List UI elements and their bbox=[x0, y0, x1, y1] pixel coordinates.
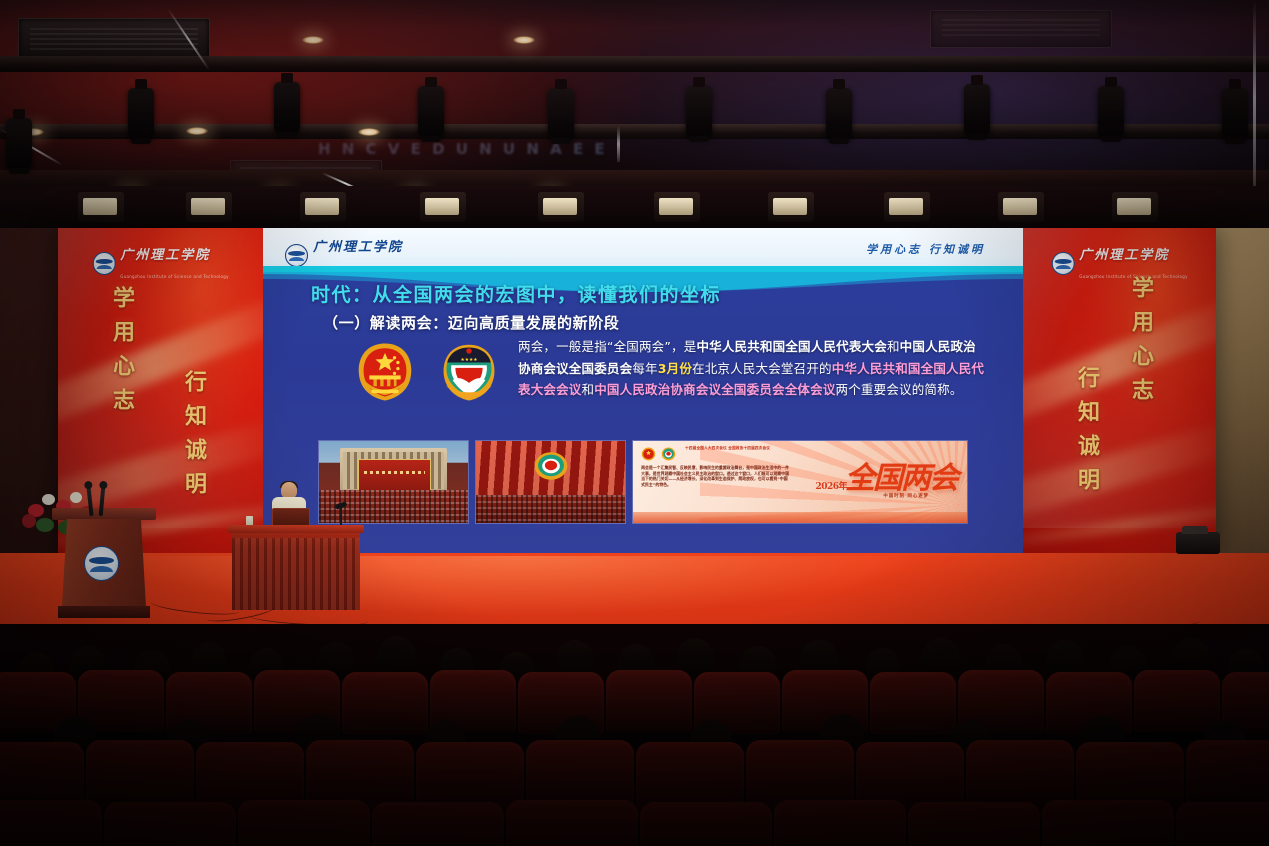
body-run: 每年 bbox=[632, 361, 657, 376]
auditorium-seat bbox=[640, 802, 772, 846]
ceiling-light-strip bbox=[1253, 0, 1256, 196]
national-emblem-of-china-icon bbox=[351, 338, 419, 406]
stage-spotlight-icon bbox=[128, 88, 154, 140]
school-logo: 广州理工学院 Guangzhou Institute of Science an… bbox=[92, 244, 229, 282]
stage-spotlight-icon bbox=[548, 88, 574, 140]
stage-light-fixture-icon bbox=[420, 192, 466, 222]
recessed-downlight-icon bbox=[186, 127, 208, 135]
school-emblem-icon bbox=[92, 252, 115, 275]
auditorium-seat bbox=[606, 670, 692, 732]
stage-light-fixture-icon bbox=[768, 192, 814, 222]
attendee-head bbox=[378, 636, 416, 674]
stage-light-fixture-icon bbox=[538, 192, 584, 222]
school-emblem-icon bbox=[285, 244, 308, 267]
poster-body-text: 两会是一个汇集民智、反映民意、影响民生的重要政治舞台，是中国政治生活中的一件大事… bbox=[641, 465, 791, 487]
ceiling: H N C V E D U N U N A E E bbox=[0, 0, 1269, 232]
stage-light-fixture-icon bbox=[1112, 192, 1158, 222]
slide-header: 广州理工学院 Guangzhou Institute of Science an… bbox=[263, 228, 1023, 268]
led-right-banner: 广州理工学院 Guangzhou Institute of Science an… bbox=[1023, 228, 1216, 556]
audience-area bbox=[0, 624, 1269, 846]
cppcc-session-photo bbox=[475, 440, 626, 524]
school-emblem-icon bbox=[1051, 252, 1074, 275]
auditorium-seat bbox=[1042, 800, 1174, 846]
auditorium-seat bbox=[870, 672, 956, 734]
body-run: 和 bbox=[887, 339, 900, 354]
cppcc-emblem-tiny-icon bbox=[661, 446, 676, 460]
presentation-slide: 广州理工学院 Guangzhou Institute of Science an… bbox=[263, 228, 1023, 556]
ceiling-fixture-row bbox=[0, 186, 1269, 232]
svg-text:★★★★: ★★★★ bbox=[460, 357, 477, 363]
body-run: 两个重要会议的简称。 bbox=[836, 382, 963, 397]
school-name-en: Guangzhou Institute of Science and Techn… bbox=[120, 274, 229, 279]
recessed-downlight-icon bbox=[302, 36, 324, 44]
recessed-downlight-icon bbox=[358, 128, 380, 136]
auditorium-seat bbox=[1176, 802, 1269, 846]
stage-spotlight-icon bbox=[418, 86, 444, 138]
auditorium-seat bbox=[774, 800, 906, 846]
banner-vertical-text-1: 学用心志 bbox=[1125, 276, 1157, 412]
stage-spotlight-icon bbox=[1098, 86, 1124, 138]
school-name-cn: 广州理工学院 bbox=[120, 248, 210, 263]
slide-emblems: ★★★★ bbox=[351, 338, 503, 406]
cppcc-emblem-icon: ★★★★ bbox=[435, 338, 503, 406]
poster-title: 全国两会 bbox=[845, 453, 957, 497]
auditorium-seat bbox=[104, 802, 236, 846]
banner-vertical-text-2: 行知诚明 bbox=[1071, 366, 1103, 502]
poster-subtitle: 中国时刻 同心逐梦 bbox=[883, 493, 929, 499]
lecture-hall-scene: H N C V E D U N U N A E E bbox=[0, 0, 1269, 846]
stage-light-fixture-icon bbox=[884, 192, 930, 222]
recessed-downlight-icon bbox=[513, 36, 535, 44]
stage-spotlight-icon bbox=[964, 84, 990, 136]
poster-emblem-caption: 十四届全国人大四次会议 全国政协十四届四次会议 bbox=[685, 446, 770, 451]
slide-thumbnail-strip: 十四届全国人大四次会议 全国政协十四届四次会议 两会是一个汇集民智、反映民意、影… bbox=[318, 440, 968, 524]
body-run: 在北京人民大会堂召开的 bbox=[692, 361, 832, 376]
lianghui-poster: 十四届全国人大四次会议 全国政协十四届四次会议 两会是一个汇集民智、反映民意、影… bbox=[632, 440, 968, 524]
school-name-cn: 广州理工学院 bbox=[1079, 248, 1169, 263]
lectern-school-seal-icon bbox=[84, 546, 119, 581]
led-video-wall: 广州理工学院 Guangzhou Institute of Science an… bbox=[58, 228, 1216, 556]
stage-light-fixture-icon bbox=[300, 192, 346, 222]
banner-vertical-text-2: 行知诚明 bbox=[178, 370, 210, 506]
stage-light-fixture-icon bbox=[654, 192, 700, 222]
body-run: 3月份 bbox=[658, 361, 692, 376]
slide-title: 时代：从全国两会的宏图中，读懂我们的坐标 bbox=[311, 280, 721, 307]
auditorium-seat bbox=[238, 800, 370, 846]
auditorium-seat bbox=[342, 672, 428, 734]
body-run: 中华人民共和国全国人民代表大会 bbox=[696, 339, 887, 354]
stage-spotlight-icon bbox=[686, 86, 712, 138]
ceiling-light-strip bbox=[617, 126, 620, 162]
stage-spotlight-icon bbox=[1222, 88, 1248, 140]
floor-monitor bbox=[1176, 532, 1220, 554]
banner-vertical-text-1: 学用心志 bbox=[106, 286, 138, 422]
ceiling-truss bbox=[0, 56, 1269, 72]
presenter-table bbox=[232, 530, 360, 610]
air-conditioner-vent-icon bbox=[930, 10, 1112, 48]
auditorium-seat bbox=[506, 800, 638, 846]
body-run: 中国人民政治协商会议全国委员会全体会议 bbox=[594, 382, 835, 397]
stage-light-fixture-icon bbox=[186, 192, 232, 222]
cppcc-emblem-small-icon bbox=[534, 451, 568, 481]
national-emblem-tiny-icon bbox=[641, 446, 656, 460]
auditorium-seat bbox=[0, 800, 102, 846]
stage-spotlight-icon bbox=[274, 82, 300, 134]
stage-light-fixture-icon bbox=[998, 192, 1044, 222]
slide-body-text: 两会，一般是指“全国两会”，是中华人民共和国全国人民代表大会和中国人民政治协商会… bbox=[518, 336, 988, 401]
poster-emblems bbox=[641, 446, 676, 460]
slide-subtitle: （一）解读两会：迈向高质量发展的新阶段 bbox=[323, 312, 619, 333]
stage-spotlight-icon bbox=[6, 118, 32, 170]
school-logo: 广州理工学院 Guangzhou Institute of Science an… bbox=[1051, 244, 1188, 282]
slide-school-name-cn: 广州理工学院 bbox=[313, 240, 403, 255]
auditorium-seat bbox=[372, 802, 504, 846]
attendee-head bbox=[922, 638, 960, 676]
auditorium-seat bbox=[908, 802, 1040, 846]
auditorium-seat bbox=[1134, 670, 1220, 732]
slide-motto: 学用心志 行知诚明 bbox=[866, 241, 985, 257]
stage-spotlight-icon bbox=[826, 88, 852, 140]
poster-year: 2026年 bbox=[815, 479, 847, 492]
body-run: 和 bbox=[582, 382, 595, 397]
stage-light-fixture-icon bbox=[78, 192, 124, 222]
body-run: 两会，一般是指“全国两会”，是 bbox=[518, 339, 696, 354]
lectern bbox=[58, 508, 150, 618]
